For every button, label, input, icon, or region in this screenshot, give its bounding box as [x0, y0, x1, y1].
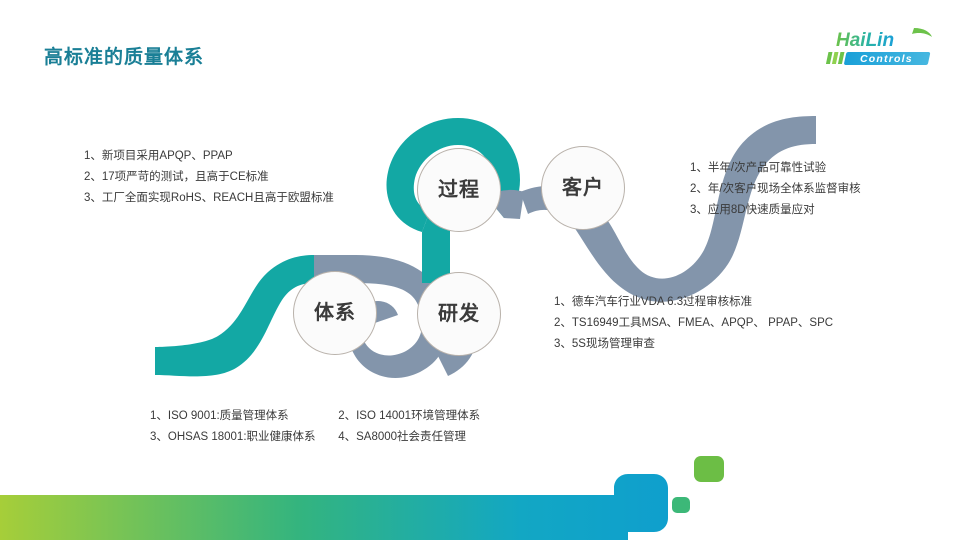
node-label-customer: 客户 [562, 178, 604, 198]
callout-line: 3、工厂全面实现RoHS、REACH且高于欧盟标准 [84, 188, 334, 209]
node-label-system: 体系 [314, 303, 356, 323]
node-circle-process[interactable]: 过程 [417, 148, 501, 232]
callout-line: 2、TS16949工具MSA、FMEA、APQP、 PPAP、SPC [554, 313, 833, 334]
deco-square-green-large [694, 456, 724, 482]
callout-top-left: 1、新项目采用APQP、PPAP 2、17项严苛的测试，且高于CE标准 3、工厂… [84, 146, 334, 209]
callout-row: 1、ISO 9001:质量管理体系 2、ISO 14001环境管理体系 [150, 406, 570, 427]
node-label-process: 过程 [438, 180, 480, 200]
callout-line: 1、新项目采用APQP、PPAP [84, 146, 334, 167]
callout-line: 3、应用8D快速质量应对 [690, 200, 861, 221]
callout-right: 1、半年/次产品可靠性试验 2、年/次客户现场全体系监督审核 3、应用8D快速质… [690, 158, 861, 221]
hailin-logo: HaiLin Controls [826, 26, 946, 70]
callout-line: 2、年/次客户现场全体系监督审核 [690, 179, 861, 200]
deco-square-green-small [672, 497, 690, 513]
node-circle-system[interactable]: 体系 [293, 271, 377, 355]
logo-artwork: HaiLin Controls [826, 26, 946, 70]
ribbon-segment-teal-bottom-left [155, 255, 314, 376]
page-title: 高标准的质量体系 [44, 42, 204, 69]
bottom-decoration [0, 430, 960, 540]
bottom-gradient-bar [0, 474, 668, 540]
callout-line: 1、德车汽车行业VDA 6.3过程审核标准 [554, 292, 833, 313]
callout-middle: 1、德车汽车行业VDA 6.3过程审核标准 2、TS16949工具MSA、FME… [554, 292, 833, 355]
node-label-rnd: 研发 [438, 304, 480, 324]
callout-cell: 2、ISO 14001环境管理体系 [338, 406, 480, 427]
callout-line: 2、17项严苛的测试，且高于CE标准 [84, 167, 334, 188]
callout-line: 1、半年/次产品可靠性试验 [690, 158, 861, 179]
leaf-icon [912, 28, 932, 37]
slide-root: 高标准的质量体系 HaiLin [0, 0, 960, 540]
logo-tagline: Controls [860, 53, 913, 65]
node-circle-rnd[interactable]: 研发 [417, 272, 501, 356]
callout-line: 3、5S现场管理审查 [554, 334, 833, 355]
logo-wordmark: HaiLin [836, 30, 894, 51]
callout-cell: 1、ISO 9001:质量管理体系 [150, 406, 335, 427]
node-circle-customer[interactable]: 客户 [541, 146, 625, 230]
